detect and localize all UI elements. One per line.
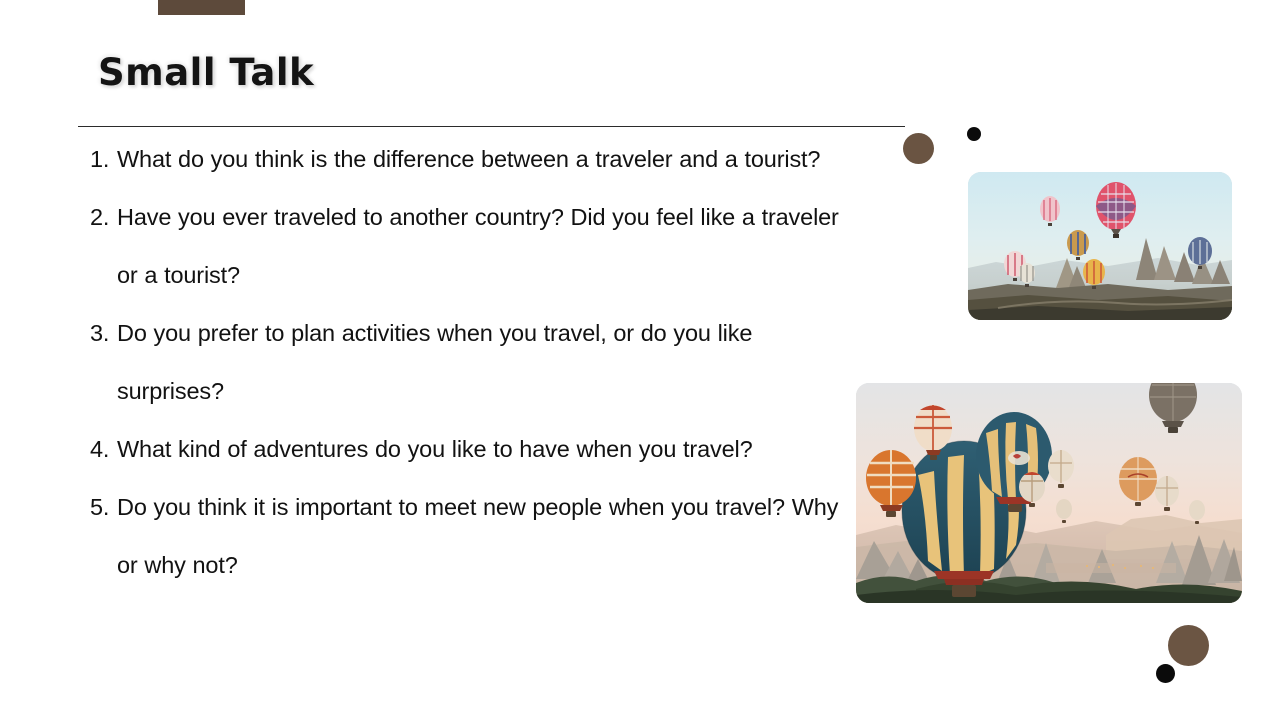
list-item-text: Do you prefer to plan activities when yo… <box>117 304 860 420</box>
image-cappadocia-balloons-large <box>856 383 1242 603</box>
top-accent-bar <box>158 0 245 15</box>
decor-circle-brown-bottom-right <box>1168 625 1209 666</box>
list-item-number: 4. <box>90 420 117 478</box>
question-list: 1.What do you think is the difference be… <box>90 130 860 594</box>
balloon-scene-large-graphic <box>856 383 1242 603</box>
decor-circle-brown-top-right <box>903 133 934 164</box>
list-item-text: What kind of adventures do you like to h… <box>117 420 860 478</box>
slide-canvas: Small Talk 1.What do you think is the di… <box>0 0 1280 720</box>
page-title: Small Talk <box>98 50 314 96</box>
list-item: 1.What do you think is the difference be… <box>90 130 860 188</box>
list-item-number: 1. <box>90 130 117 188</box>
decor-circle-black-top-right <box>967 127 981 141</box>
list-item-text: Do you think it is important to meet new… <box>117 478 860 594</box>
title-divider <box>78 126 905 127</box>
list-item-text: Have you ever traveled to another countr… <box>117 188 860 304</box>
decor-circle-black-bottom-right <box>1156 664 1175 683</box>
list-item: 5.Do you think it is important to meet n… <box>90 478 860 594</box>
page-title-container: Small Talk <box>98 50 314 96</box>
list-item-number: 3. <box>90 304 117 362</box>
list-item: 3.Do you prefer to plan activities when … <box>90 304 860 420</box>
list-item-number: 5. <box>90 478 117 536</box>
balloon-scene-small-graphic <box>968 172 1232 320</box>
list-item: 4.What kind of adventures do you like to… <box>90 420 860 478</box>
list-item-number: 2. <box>90 188 117 246</box>
list-item-text: What do you think is the difference betw… <box>117 130 860 188</box>
image-cappadocia-balloons-small <box>968 172 1232 320</box>
list-item: 2.Have you ever traveled to another coun… <box>90 188 860 304</box>
